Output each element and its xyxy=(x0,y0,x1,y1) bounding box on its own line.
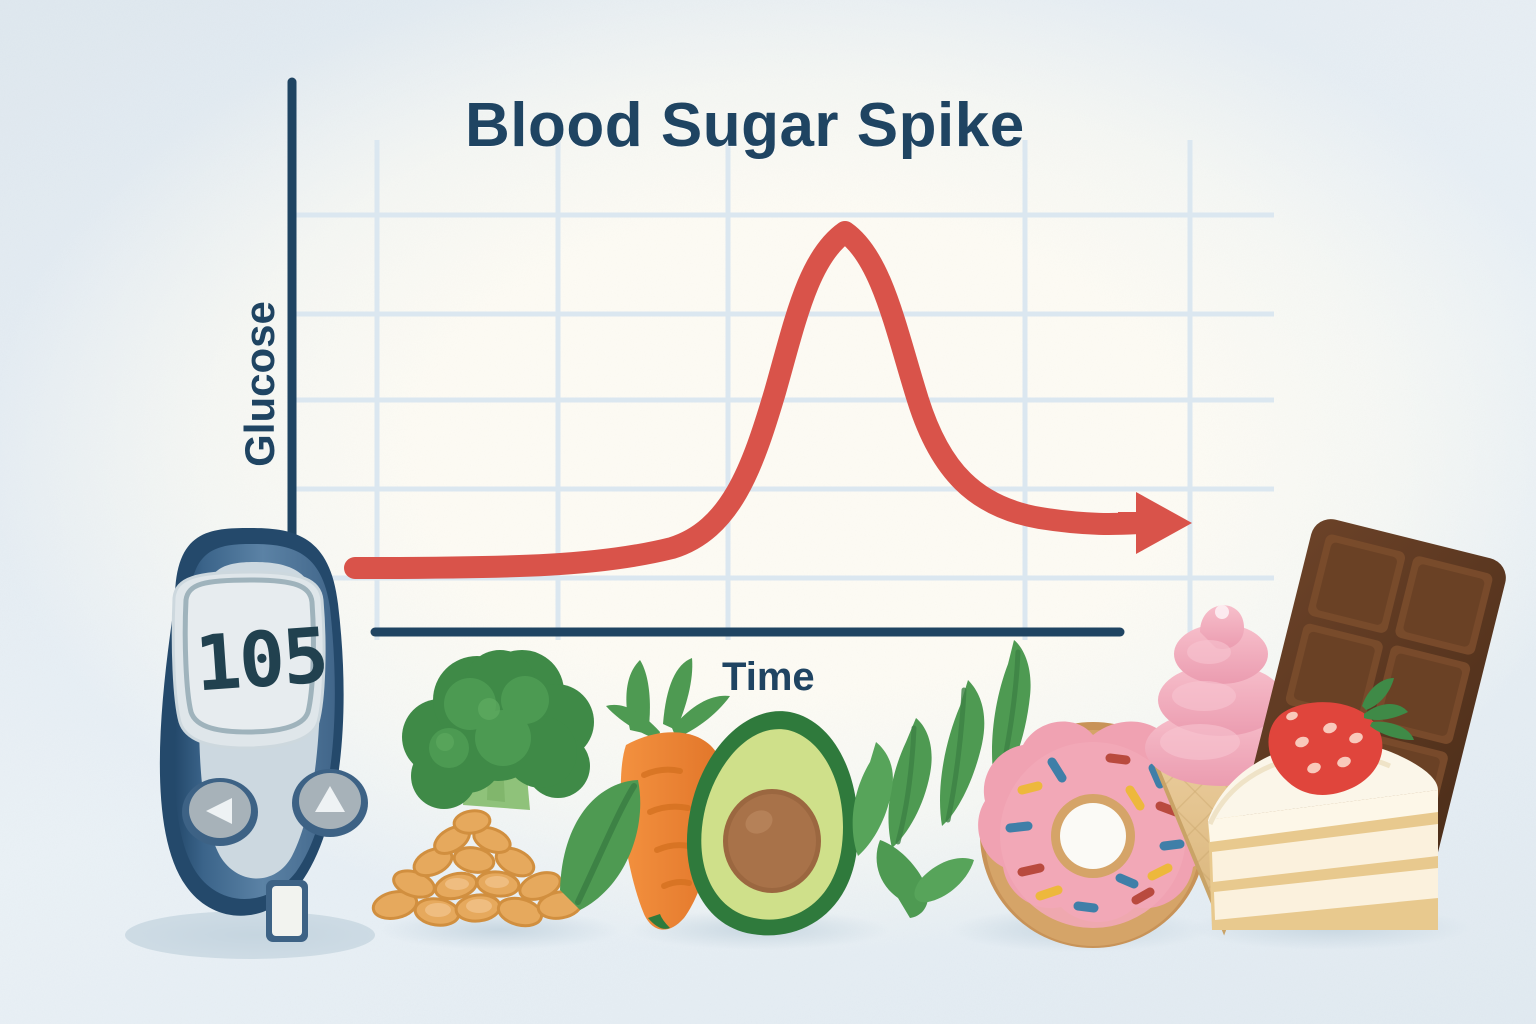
illustration-canvas: Blood Sugar Spike Glucose Time xyxy=(0,0,1536,1024)
glucose-meter[interactable] xyxy=(0,0,1536,1024)
meter-button-left[interactable] xyxy=(182,778,258,846)
test-strip xyxy=(266,880,308,942)
meter-reading: 105 xyxy=(183,610,339,709)
meter-button-right[interactable] xyxy=(292,769,368,837)
